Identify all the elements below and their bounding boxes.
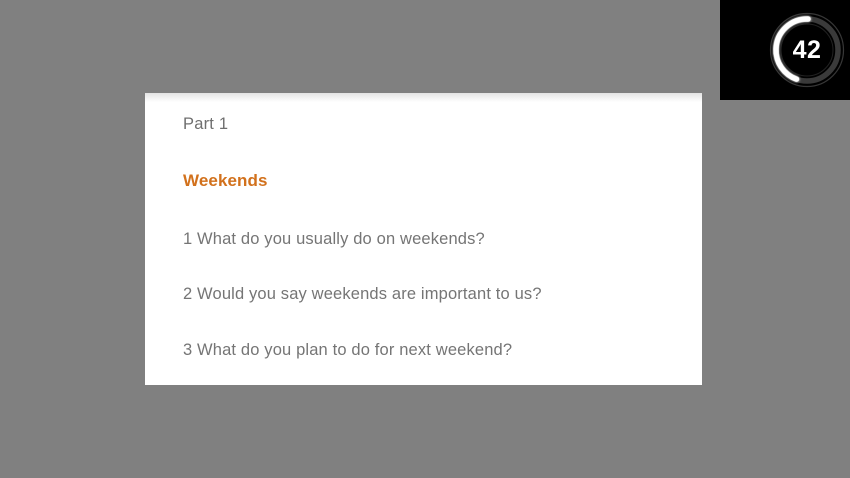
card-top-strip [145,93,702,102]
progress-ring: 42 [765,8,849,92]
question-item: 1 What do you usually do on weekends? [183,189,682,248]
question-item: 3 What do you plan to do for next weeken… [183,303,682,359]
slide-stage: Part 1 Weekends 1 What do you usually do… [0,0,850,478]
content-card: Part 1 Weekends 1 What do you usually do… [145,93,702,385]
circular-progress-ring-icon [765,8,849,92]
part-label: Part 1 [183,111,682,133]
card-body: Part 1 Weekends 1 What do you usually do… [183,111,682,385]
question-item: 2 Would you say weekends are important t… [183,247,682,303]
section-heading: Weekends [183,133,682,189]
question-list: 1 What do you usually do on weekends? 2 … [183,189,682,359]
badge-panel: 42 [720,0,850,100]
